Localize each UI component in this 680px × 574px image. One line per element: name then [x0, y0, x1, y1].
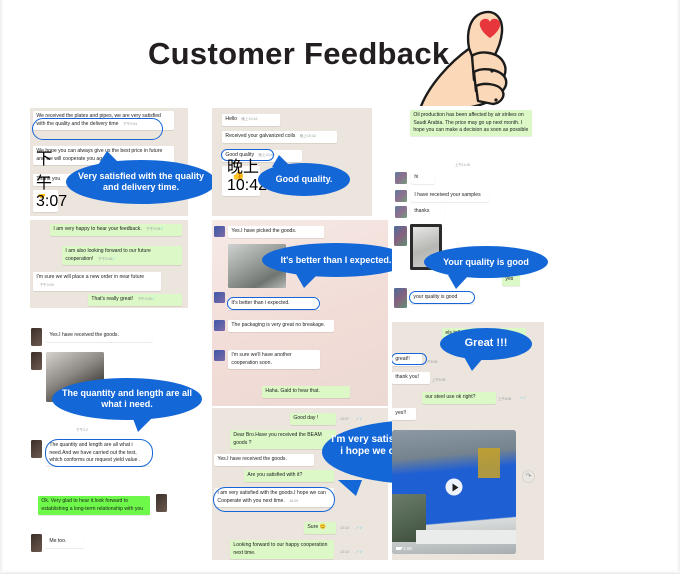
bubble-time: 下午3:08 [98, 257, 112, 261]
bubble-text: I am very happy to hear your feedback. [53, 226, 141, 232]
bubble-time: 下午3:09 [138, 297, 152, 301]
callout-tail [132, 416, 154, 432]
bubble-time: 10:10 [340, 550, 349, 554]
bubble-text: I'm sure we'll have another cooperation … [231, 352, 291, 365]
bubble-time: 下午3:08 [146, 227, 160, 231]
read-tick-icon: ✓✓ [356, 525, 363, 530]
chat-bubble[interactable]: I'm sure we will place a new order in ne… [33, 272, 161, 291]
callout-tail [296, 274, 318, 288]
callout-text: Great !!! [465, 337, 508, 350]
avatar [395, 172, 407, 184]
bubble-text: Hello [225, 116, 237, 122]
sticker-bubble[interactable]: 👍 晚上10:42 [222, 166, 260, 196]
callout-balloon-1: Very satisfied with the quality and deli… [66, 160, 216, 204]
chat-bubble[interactable]: The quantity and length are all what i n… [46, 440, 152, 466]
video-camera-icon [396, 547, 401, 550]
bubble-text: hi [414, 174, 418, 180]
bubble-text: Yes.I have picked the goods. [231, 228, 296, 234]
chat-bubble[interactable]: hi [411, 172, 435, 184]
bubble-text: Good day ! [293, 415, 318, 421]
bubble-text: I am very satisfied with the goods.I hop… [217, 490, 325, 503]
chat-bubble[interactable]: thanks [411, 206, 445, 218]
bubble-text: Sure 😊 [307, 524, 326, 530]
chat-bubble[interactable]: our steel use ok right? [422, 392, 496, 404]
bubble-text: Looking forward to our happy cooperation… [233, 542, 327, 555]
chat-bubble[interactable]: Yes.I have received the goods. [214, 454, 314, 466]
bubble-time: 晚上10:42 [241, 117, 257, 121]
bubble-time: 上午8:56 [498, 396, 511, 401]
bubble-text: Oil production has been affected by air … [413, 112, 528, 132]
bubble-text: Me too. [49, 538, 66, 544]
avatar [395, 190, 407, 202]
chat-bubble[interactable]: Sure 😊 [304, 522, 336, 534]
chat-bubble[interactable]: We received the plates and pipes, we are… [33, 111, 174, 130]
bubble-text: Dear Bro.Have you received the BEAM good… [233, 432, 321, 445]
avatar [31, 352, 42, 370]
read-tick-icon: ✓✓ [520, 395, 526, 400]
chat-bubble[interactable]: I am also looking forward to our future … [62, 246, 182, 265]
avatar [31, 440, 42, 458]
chat-bubble[interactable]: Good day ! [290, 413, 336, 425]
chat-bubble[interactable]: Looking forward to our happy cooperation… [230, 540, 334, 559]
bubble-text: The packaging is very great no breakage. [231, 322, 325, 328]
chat-bubble[interactable]: great!! [392, 354, 422, 366]
read-tick-icon: ✓ [112, 257, 115, 261]
chat-bubble[interactable]: It's better than i expected. [228, 298, 320, 310]
chat-bubble[interactable]: Dear Bro.Have you received the BEAM good… [230, 430, 336, 449]
chat-bubble[interactable]: That's really great! 下午3:09✓ [88, 294, 182, 306]
bubble-time: 上午8:55 [424, 359, 437, 364]
callout-balloon-7: The quantity and length are all what i n… [52, 378, 202, 420]
read-tick-icon: ✓ [160, 227, 163, 231]
callout-text: Your quality is good [443, 257, 529, 268]
callout-tail [338, 480, 362, 496]
bubble-text: It's better than i expected. [231, 300, 289, 306]
chat-bubble[interactable]: yes!! [392, 408, 416, 420]
bubble-text: Ok. Very glad to hear it.look forward to… [41, 498, 143, 511]
chat-panel-4: I am very happy to hear your feedback. 下… [30, 220, 188, 308]
bubble-text: That's really great! [91, 296, 133, 302]
bubble-time: 10:10 [340, 526, 349, 530]
chat-bubble[interactable]: Haha. Gald to hear that. [262, 386, 350, 398]
chat-bubble[interactable]: I am very happy to hear your feedback. 下… [50, 224, 182, 236]
page-edge-left [0, 0, 3, 574]
callout-tail [464, 357, 484, 371]
bubble-time: 下午2:2 [76, 428, 88, 433]
avatar [395, 206, 407, 218]
bubble-text: We received the plates and pipes, we are… [36, 113, 161, 126]
chat-bubble[interactable]: your quality is good [410, 292, 474, 304]
video-duration: 1:06 [396, 546, 412, 551]
callout-text: The quantity and length are all what i n… [60, 388, 194, 410]
chat-bubble[interactable]: thank you! [392, 372, 430, 384]
avatar [214, 320, 225, 331]
sticker-bubble[interactable]: 🤝 下午3:07 [33, 190, 58, 212]
chat-panel-3: Oil production has been affected by air … [392, 106, 542, 218]
avatar [394, 288, 407, 308]
avatar [31, 534, 42, 552]
callout-tail [448, 275, 469, 289]
callout-tail [272, 155, 291, 167]
bubble-text: our steel use ok right? [425, 394, 475, 400]
read-tick-icon: ✓✓ [356, 549, 363, 554]
chat-bubble[interactable]: Oil production has been affected by air … [410, 110, 532, 136]
bubble-text: Yes.I have received the goods. [217, 456, 286, 462]
bubble-text: Are you satisfied with it? [247, 472, 302, 478]
bubble-text: Received your galvanized coils [225, 133, 295, 139]
avatar [394, 226, 407, 246]
chat-bubble[interactable]: I have received your samples [411, 190, 489, 202]
callout-balloon-9: Great !!! [440, 328, 532, 360]
chat-panel-7: Yes.I have received the goods. 下午2:2 The… [30, 322, 188, 560]
callout-balloon-5: It's better than I expected. [262, 243, 410, 277]
chat-bubble[interactable]: Yes.I have received the goods. [46, 330, 152, 342]
video-message[interactable]: 1:06 [392, 430, 516, 554]
avatar [214, 226, 225, 237]
customer-feedback-page: Customer Feedback We received the plates… [0, 0, 680, 574]
play-icon[interactable] [446, 479, 463, 496]
chat-panel-2: Hello 晚上10:42 Received your galvanized c… [212, 108, 372, 216]
chat-bubble[interactable]: Me too. [46, 536, 84, 548]
bubble-time: 10:07 [340, 417, 349, 421]
callout-balloon-2: Good quality. [258, 163, 350, 196]
bubble-text: your quality is good [413, 294, 457, 300]
bubble-text: The quantity and length are all what i n… [49, 442, 140, 462]
bubble-time: 上午8:55 [432, 377, 445, 382]
bubble-text: yes!! [395, 410, 406, 416]
bubble-time: 上午11:49 [455, 162, 470, 167]
avatar [31, 328, 42, 346]
bubble-text: thanks [414, 208, 429, 214]
bubble-text: I have received your samples [414, 192, 480, 198]
thumbs-up-with-heart-icon [408, 8, 520, 116]
chat-bubble[interactable]: Yes.I have picked the goods. [228, 226, 324, 238]
bubble-time: 下午3:09 [39, 283, 53, 287]
bubble-text: thank you! [395, 374, 419, 380]
callout-tail [98, 151, 121, 165]
read-tick-icon: ✓ [152, 297, 155, 301]
chat-bubble[interactable]: Are you satisfied with it? [244, 470, 334, 482]
bubble-text: I'm sure we will place a new order in ne… [36, 274, 144, 280]
chat-bubble[interactable]: I am very satisfied with the goods.I hop… [214, 488, 334, 507]
video-duration-text: 1:06 [403, 546, 412, 551]
avatar [214, 350, 225, 361]
bubble-text: Yes.I have received the goods. [49, 332, 118, 338]
bubble-time: 下午3:07 [36, 145, 67, 211]
callout-balloon-6: Your quality is good [424, 246, 548, 278]
read-tick-icon: ✓✓ [356, 416, 363, 421]
chat-bubble[interactable]: I'm sure we'll have another cooperation … [228, 350, 320, 369]
callout-text: Good quality. [276, 174, 333, 185]
chat-bubble[interactable]: Received your galvanized coils 晚上10:42 [222, 131, 337, 143]
bubble-time: 晚上10:42 [300, 134, 316, 138]
forward-arrow-icon[interactable]: ↷ [522, 470, 535, 483]
callout-text: Very satisfied with the quality and deli… [74, 171, 208, 193]
bubble-time: 下午3:04 [123, 122, 137, 126]
chat-bubble[interactable]: Hello 晚上10:42 [222, 114, 280, 126]
chat-bubble[interactable]: The packaging is very great no breakage. [228, 320, 334, 332]
avatar [214, 292, 225, 303]
page-title: Customer Feedback [148, 36, 449, 72]
chat-bubble[interactable]: Ok. Very glad to hear it.look forward to… [38, 496, 150, 515]
bubble-text: Haha. Gald to hear that. [265, 388, 319, 394]
bubble-text: great!! [395, 356, 409, 362]
avatar [156, 494, 167, 512]
bubble-text: yes [505, 276, 513, 282]
callout-text: It's better than I expected. [281, 255, 392, 266]
bubble-time: 16:09 [289, 499, 298, 503]
